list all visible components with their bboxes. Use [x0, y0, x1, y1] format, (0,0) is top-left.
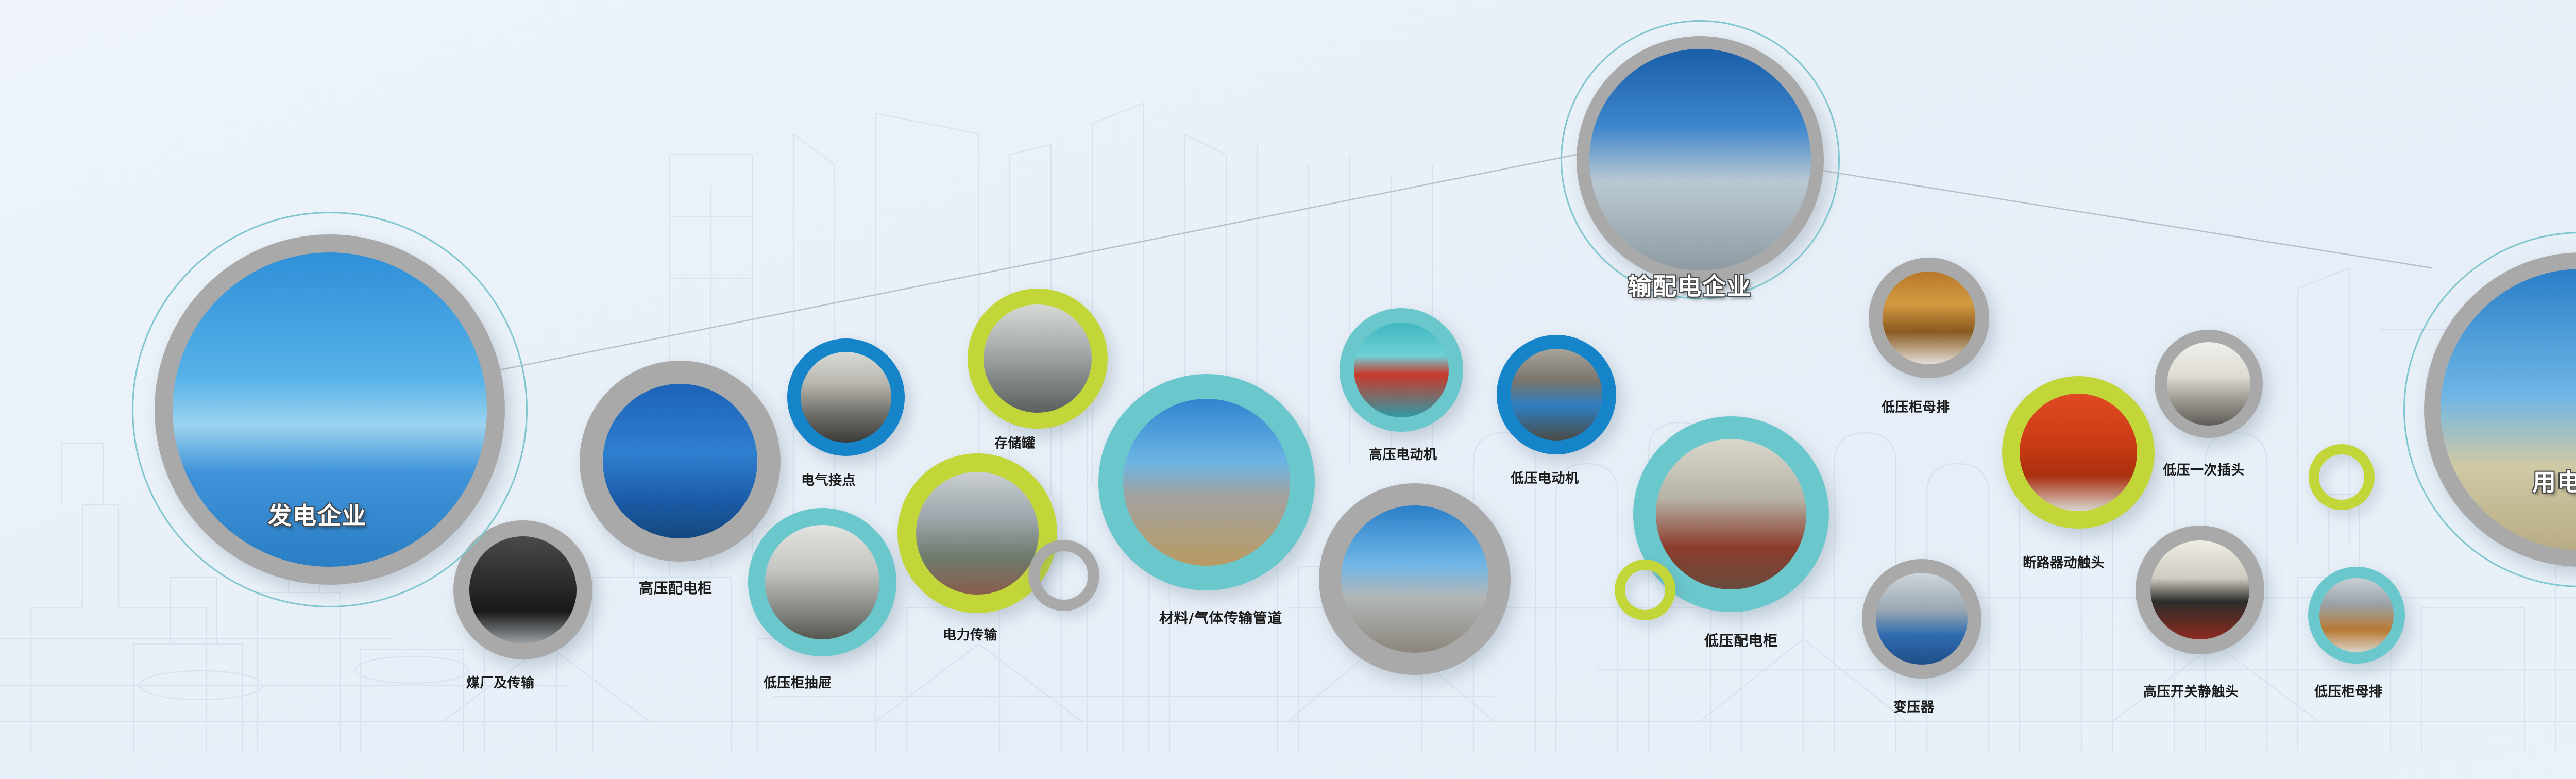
circle-node-hv-motor[interactable] — [1340, 308, 1463, 432]
circle-node-transformer[interactable] — [1862, 559, 1981, 679]
decorative-ring-deco-green-2 — [2309, 444, 2375, 510]
photo-electrical-contacts — [801, 352, 891, 443]
caption-transmission-distribution: 输配电企业 — [1628, 268, 1752, 302]
caption-electrical-contacts: 电气接点 — [801, 470, 856, 489]
circle-node-power-consumption[interactable] — [2424, 252, 2576, 567]
photo-transformer — [1876, 573, 1968, 665]
caption-hv-distribution-cabinet: 高压配电柜 — [639, 577, 713, 598]
caption-lv-cabinet-busbar-bottom: 低压柜母排 — [2314, 681, 2383, 700]
decorative-ring-deco-green-1 — [1615, 560, 1675, 620]
photo-power-transmission — [916, 472, 1039, 595]
circle-node-lv-cabinet-busbar-top[interactable] — [1869, 258, 1989, 378]
photo-lv-cabinet-drawer — [765, 525, 879, 639]
caption-power-generation: 发电企业 — [268, 497, 367, 531]
photo-lv-primary-plug — [2167, 342, 2250, 426]
circle-node-transmission-distribution[interactable] — [1577, 36, 1824, 283]
circle-node-electrical-contacts[interactable] — [787, 338, 905, 456]
caption-hv-motor: 高压电动机 — [1369, 444, 1437, 463]
circle-node-lv-motor[interactable] — [1497, 335, 1616, 454]
photo-lv-motor — [1511, 349, 1602, 441]
circle-node-lv-cabinet-busbar-bottom[interactable] — [2308, 567, 2405, 664]
circle-node-material-gas-pipeline[interactable] — [1098, 374, 1315, 590]
caption-lv-cabinet-drawer: 低压柜抽屉 — [764, 672, 832, 691]
photo-lv-distribution-cabinet — [1656, 439, 1806, 589]
photo-plant-overview — [1341, 505, 1488, 653]
circle-node-plant-overview[interactable] — [1319, 483, 1511, 675]
photo-storage-tanks — [984, 304, 1092, 413]
photo-hv-distribution-cabinet — [603, 384, 757, 538]
caption-breaker-moving-contact: 断路器动触头 — [2023, 552, 2105, 571]
caption-power-consumption: 用电企业 — [2532, 464, 2576, 498]
photo-lv-cabinet-busbar-top — [1883, 272, 1975, 364]
caption-lv-motor: 低压电动机 — [1511, 468, 1579, 487]
connector-transmission-to-consumption — [1819, 170, 2432, 268]
circle-node-breaker-moving-contact[interactable] — [2002, 376, 2155, 529]
circle-node-lv-cabinet-drawer[interactable] — [748, 508, 896, 656]
circle-node-storage-tanks[interactable] — [968, 289, 1108, 429]
caption-material-gas-pipeline: 材料/气体传输管道 — [1159, 607, 1282, 628]
infographic-canvas: 煤厂及传输高压配电柜电气接点存储罐低压柜抽屉电力传输材料/气体传输管道高压电动机… — [0, 0, 2576, 779]
decorative-ring-deco-gray-1 — [1028, 540, 1099, 611]
caption-lv-distribution-cabinet: 低压配电柜 — [1704, 630, 1778, 650]
caption-lv-cabinet-busbar-top: 低压柜母排 — [1882, 397, 1950, 416]
circle-node-hv-switch-static-contact[interactable] — [2136, 526, 2264, 654]
photo-lv-cabinet-busbar-bottom — [2319, 578, 2394, 652]
photo-hv-motor — [1354, 323, 1449, 417]
photo-material-gas-pipeline — [1123, 399, 1290, 566]
circle-node-lv-primary-plug[interactable] — [2155, 330, 2263, 438]
caption-power-transmission: 电力传输 — [943, 624, 997, 643]
caption-hv-switch-static-contact: 高压开关静触头 — [2143, 681, 2239, 700]
circle-node-power-generation[interactable] — [155, 234, 505, 585]
photo-breaker-moving-contact — [2020, 394, 2137, 511]
photo-hv-switch-static-contact — [2150, 540, 2249, 639]
caption-coal-plant-transport: 煤厂及传输 — [466, 672, 535, 691]
caption-transformer: 变压器 — [1893, 697, 1935, 716]
photo-transmission-distribution — [1589, 49, 1811, 270]
caption-storage-tanks: 存储罐 — [994, 433, 1036, 452]
caption-lv-primary-plug: 低压一次插头 — [2163, 460, 2245, 479]
